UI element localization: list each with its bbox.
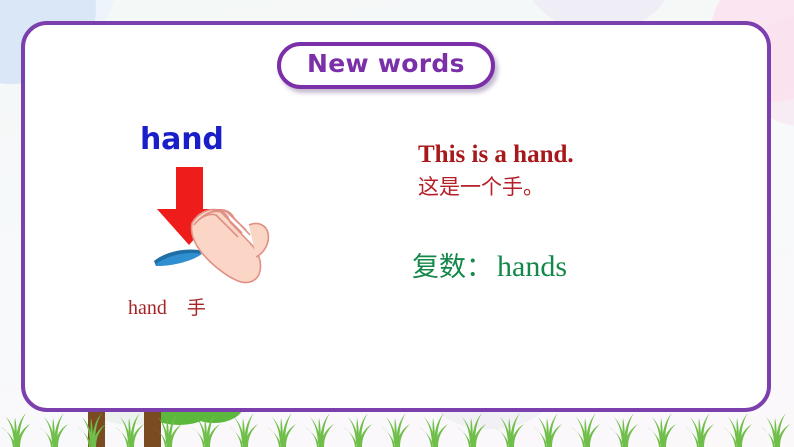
- caption-chinese: 手: [187, 297, 206, 319]
- example-sentence-english: This is a hand.: [418, 141, 748, 170]
- sleeve-shape: [154, 249, 204, 266]
- hand-illustration: [146, 165, 346, 285]
- example-block: This is a hand. 这是一个手。 复数：hands: [418, 141, 748, 283]
- caption-english: hand: [128, 297, 167, 319]
- page-title: New words: [307, 51, 465, 77]
- plural-label: 复数：: [412, 252, 493, 283]
- plural-form-row: 复数：hands: [412, 250, 748, 283]
- grass-icon-row: [0, 407, 794, 447]
- vocabulary-word: hand: [140, 125, 370, 155]
- content-card: New words hand: [21, 21, 771, 412]
- open-hand-icon: [191, 210, 268, 283]
- hand-with-arrow-graphic: [146, 165, 346, 285]
- slide-canvas: New words hand: [0, 0, 794, 447]
- example-sentence-chinese: 这是一个手。: [418, 175, 748, 200]
- plural-value: hands: [497, 250, 567, 283]
- title-pill: New words: [277, 42, 495, 89]
- vocabulary-caption: hand手: [128, 293, 370, 320]
- vocabulary-block: hand: [100, 125, 370, 320]
